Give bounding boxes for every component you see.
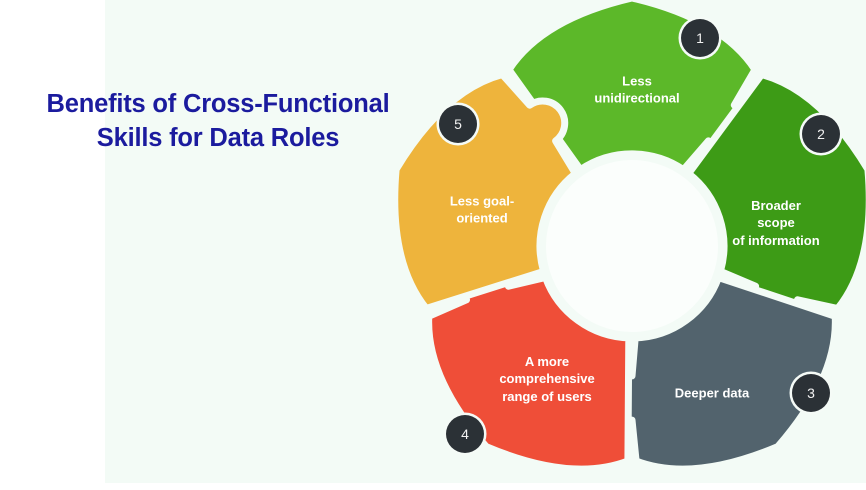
infographic-canvas: Benefits of Cross-Functional Skills for …	[0, 0, 866, 490]
puzzle-diagram: Less unidirectionalBroader scope of info…	[0, 0, 866, 490]
piece-badge-2[interactable]: 2	[802, 115, 840, 153]
piece-badge-5[interactable]: 5	[439, 105, 477, 143]
piece-badge-1[interactable]: 1	[681, 19, 719, 57]
piece-badge-3[interactable]: 3	[792, 374, 830, 412]
piece-badge-4[interactable]: 4	[446, 415, 484, 453]
page-title: Benefits of Cross-Functional Skills for …	[18, 88, 418, 155]
page-title-line-2: Skills for Data Roles	[18, 122, 418, 156]
puzzle-piece-5[interactable]	[395, 75, 576, 309]
puzzle-svg	[0, 0, 866, 490]
page-title-line-1: Benefits of Cross-Functional	[18, 88, 418, 122]
center-hole	[546, 160, 718, 332]
